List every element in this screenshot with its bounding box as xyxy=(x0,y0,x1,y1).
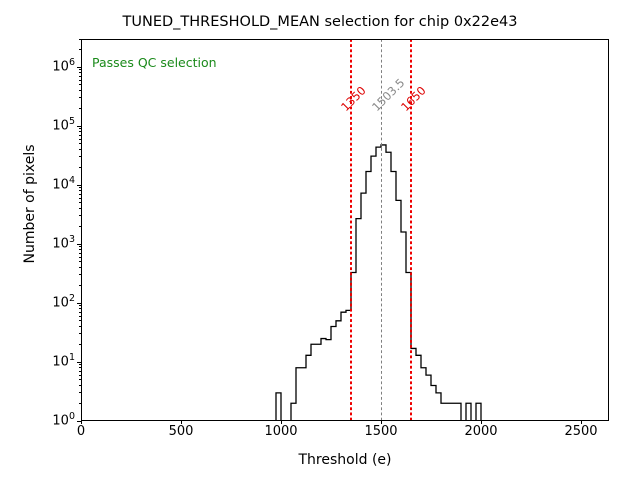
x-tick-label-500: 500 xyxy=(169,424,194,439)
page-title: TUNED_THRESHOLD_MEAN selection for chip … xyxy=(0,14,640,30)
y-tick-label-1e0: 100 xyxy=(52,414,75,429)
y-tick-label-1e1: 101 xyxy=(52,355,75,370)
y-axis-tick-labels: 100101102103104105106 xyxy=(0,0,75,480)
x-tick-label-1500: 1500 xyxy=(364,424,397,439)
x-tick-label-0: 0 xyxy=(77,424,85,439)
x-tick-label-2500: 2500 xyxy=(564,424,597,439)
y-tick-label-1e3: 103 xyxy=(52,237,75,252)
qc-status-annotation: Passes QC selection xyxy=(92,55,217,70)
histogram-figure: TUNED_THRESHOLD_MEAN selection for chip … xyxy=(0,0,640,480)
y-tick-label-1e2: 102 xyxy=(52,296,75,311)
y-tick-label-1e4: 104 xyxy=(52,178,75,193)
x-tick-label-2000: 2000 xyxy=(464,424,497,439)
y-tick-label-1e5: 105 xyxy=(52,119,75,134)
x-tick-label-1000: 1000 xyxy=(264,424,297,439)
x-axis-title: Threshold (e) xyxy=(81,452,609,468)
y-tick-label-1e6: 106 xyxy=(52,60,75,75)
